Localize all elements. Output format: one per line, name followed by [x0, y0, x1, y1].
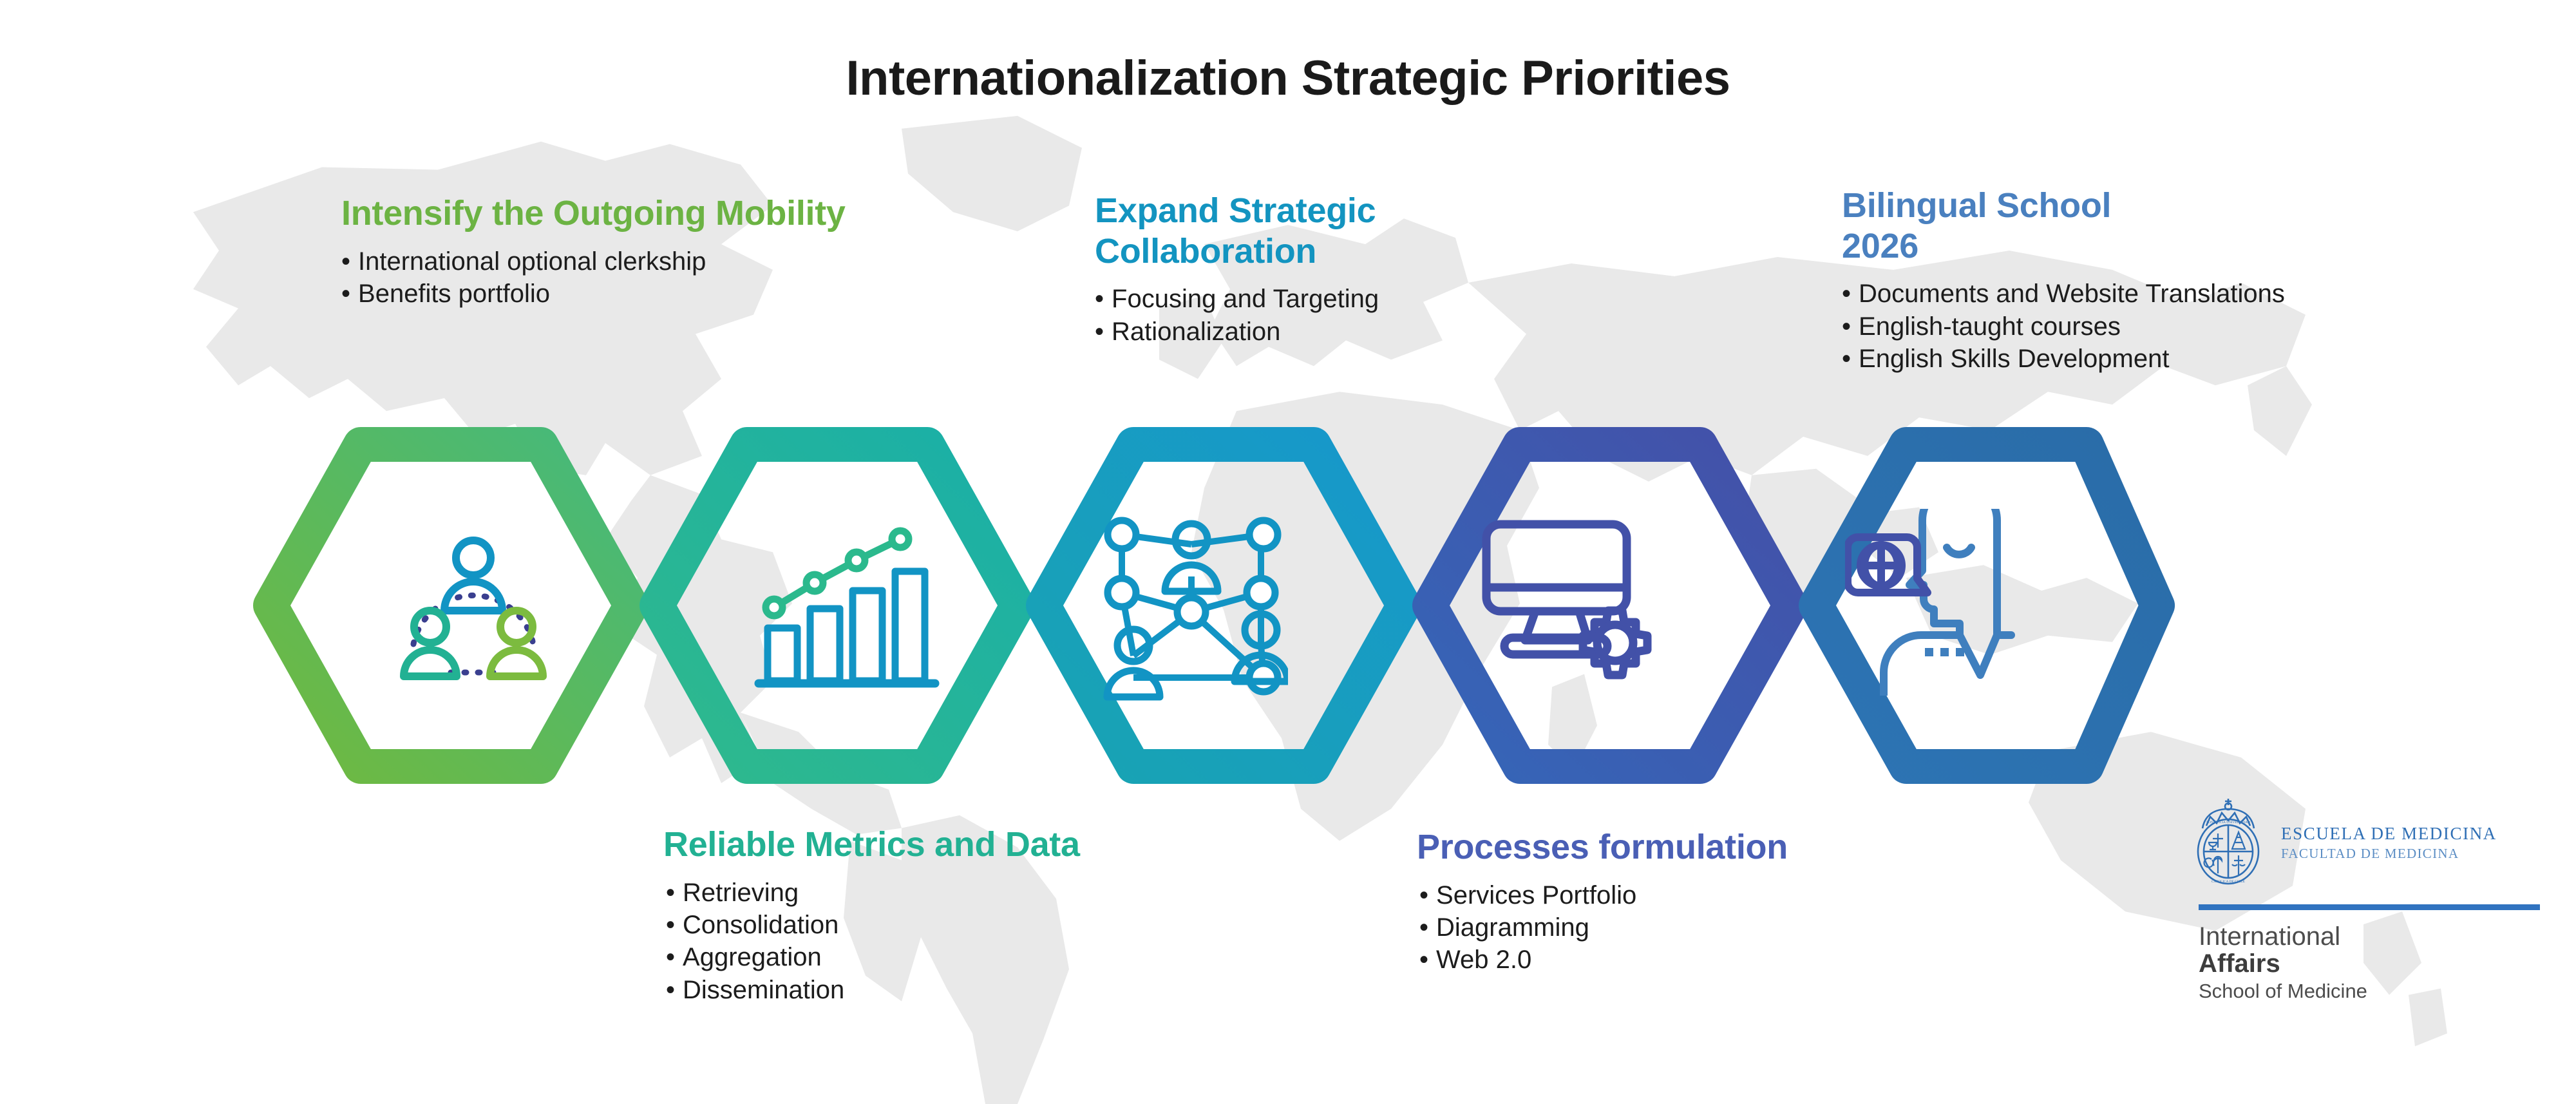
hexagon-outline-2	[657, 444, 1018, 766]
bullet-item: Web 2.0	[1417, 944, 1788, 976]
section-bullets-3: Focusing and Targeting Rationalization	[1095, 283, 1391, 348]
section-bullets-4: Services Portfolio Diagramming Web 2.0	[1417, 879, 1788, 976]
section-bullets-1: International optional clerkship Benefit…	[341, 245, 846, 310]
bullet-item: Aggregation	[663, 941, 1080, 973]
logo-org-line-2: FACULTAD DE MEDICINA	[2281, 846, 2497, 861]
bullet-item: Focusing and Targeting	[1095, 283, 1391, 315]
section-heading-2: Reliable Metrics and Data	[663, 824, 1080, 865]
bullet-item: English Skills Development	[1842, 343, 2285, 375]
hexagon-outline-3	[1043, 444, 1404, 766]
logo-unit-line-2: Affairs	[2199, 950, 2550, 977]
logo-org-line-1: ESCUELA DE MEDICINA	[2281, 824, 2497, 842]
section-heading-4: Processes formulation	[1417, 827, 1788, 868]
section-heading-5: Bilingual School 2026	[1842, 186, 2145, 266]
bullet-item: English-taught courses	[1842, 310, 2285, 343]
logo-unit-line-1: International	[2199, 923, 2550, 950]
section-heading-3: Expand Strategic Collaboration	[1095, 191, 1391, 271]
puc-chile-crest-icon: PONTIFICIA UNIVERSIDAD CATOLICA DE CHILE	[2190, 797, 2267, 888]
bullet-item: Consolidation	[663, 909, 1080, 941]
section-block-1: Intensify the Outgoing Mobility Internat…	[341, 193, 846, 310]
section-block-3: Expand Strategic Collaboration Focusing …	[1095, 191, 1391, 348]
bullet-item: Documents and Website Translations	[1842, 278, 2285, 310]
svg-text:CATOLICA DE CHILE: CATOLICA DE CHILE	[2211, 880, 2246, 884]
institution-logo-lockup: PONTIFICIA UNIVERSIDAD CATOLICA DE CHILE…	[2190, 797, 2550, 1003]
hexagon-outline-1	[270, 444, 631, 766]
bullet-item: Dissemination	[663, 974, 1080, 1006]
bullet-item: Diagramming	[1417, 911, 1788, 944]
hexagon-outline-4	[1430, 444, 1790, 766]
logo-unit-line-3: School of Medicine	[2199, 980, 2550, 1003]
section-block-4: Processes formulation Services Portfolio…	[1417, 827, 1788, 976]
hexagon-chain	[245, 399, 2183, 812]
logo-divider-rule	[2199, 904, 2540, 910]
bullet-item: Rationalization	[1095, 316, 1391, 348]
section-bullets-2: Retrieving Consolidation Aggregation Dis…	[663, 877, 1080, 1007]
bullet-item: International optional clerkship	[341, 245, 846, 278]
section-block-2: Reliable Metrics and Data Retrieving Con…	[663, 824, 1080, 1006]
section-block-5: Bilingual School 2026 Documents and Webs…	[1842, 186, 2285, 375]
section-heading-1: Intensify the Outgoing Mobility	[341, 193, 846, 234]
bullet-item: Retrieving	[663, 877, 1080, 909]
bullet-item: Benefits portfolio	[341, 278, 846, 310]
svg-text:PONTIFICIA UNIVERSIDAD: PONTIFICIA UNIVERSIDAD	[2206, 821, 2250, 824]
bullet-item: Services Portfolio	[1417, 879, 1788, 911]
hexagon-outline-5	[1816, 444, 2157, 766]
section-bullets-5: Documents and Website Translations Engli…	[1842, 278, 2285, 375]
page-title: Internationalization Strategic Prioritie…	[0, 50, 2576, 106]
infographic-canvas: Internationalization Strategic Prioritie…	[0, 0, 2576, 1104]
